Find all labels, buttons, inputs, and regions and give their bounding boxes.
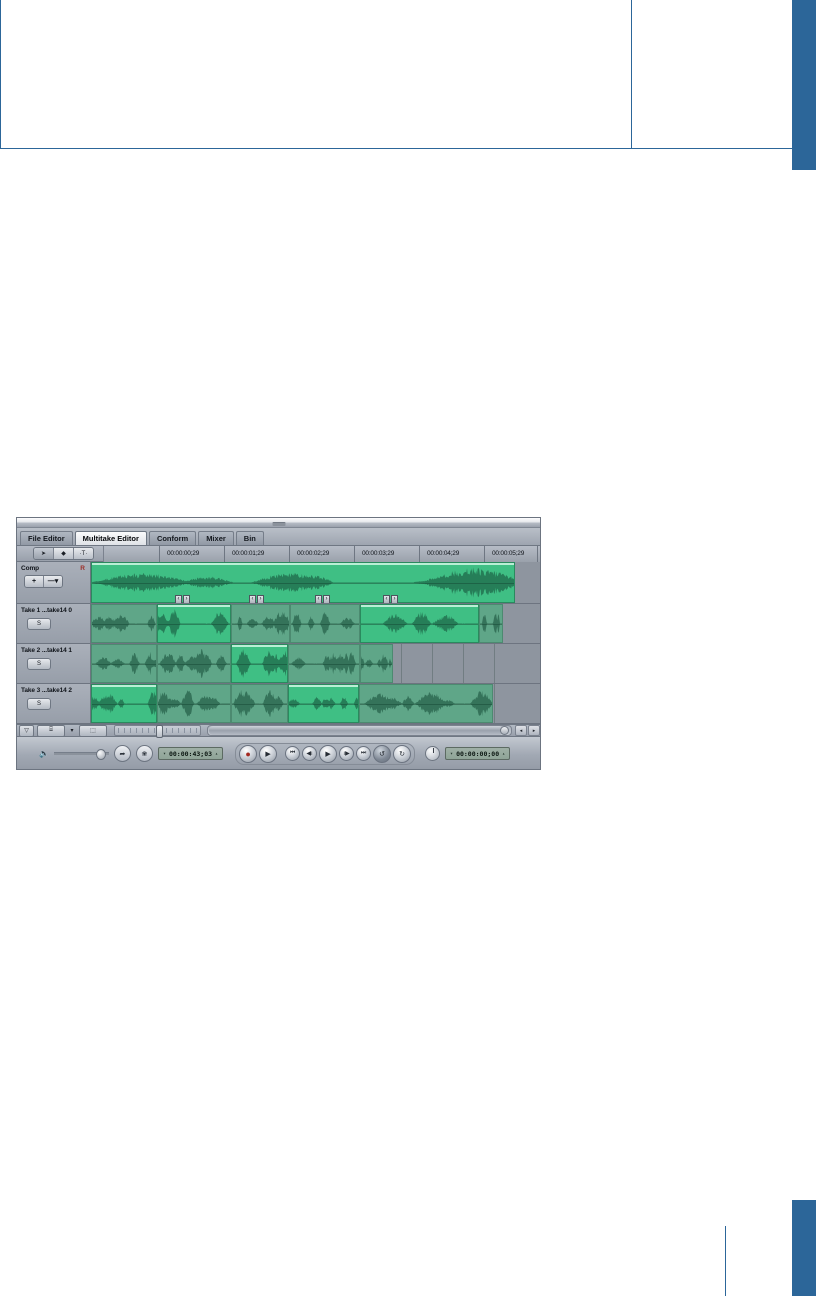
tool-button-group: ➤ ◆ ·T·	[33, 547, 94, 560]
take-clip[interactable]	[290, 604, 360, 643]
take-clip[interactable]	[479, 604, 503, 643]
take-clip[interactable]	[231, 604, 290, 643]
volume-slider[interactable]	[54, 752, 109, 755]
scrollbar-thumb[interactable]	[209, 726, 503, 735]
transition-handle-right-icon[interactable]: ›	[183, 595, 190, 603]
editor-tab-bar: File Editor Multitake Editor Conform Mix…	[17, 528, 540, 546]
take-clip[interactable]	[231, 684, 288, 723]
transition-handle[interactable]: ‹›	[249, 595, 264, 603]
take-track: Take 1 ...take14 0S	[17, 604, 540, 644]
tab-mixer[interactable]: Mixer	[198, 531, 234, 545]
record-button[interactable]: ●	[239, 745, 257, 763]
transition-handle-left-icon[interactable]: ‹	[249, 595, 256, 603]
lane-gridline	[494, 684, 495, 723]
selection-timecode-value: 00:00:00;00	[456, 750, 499, 758]
ruler-label: 00:00:05;29	[492, 550, 524, 557]
page-column-rule-bottom	[725, 1226, 726, 1296]
timecode-down-arrow-icon[interactable]: ▾	[163, 751, 166, 757]
tab-conform[interactable]: Conform	[149, 531, 196, 545]
take-track-header[interactable]: Take 1 ...take14 0S	[17, 604, 91, 643]
waveform	[291, 605, 359, 642]
take-clip-selected[interactable]	[288, 684, 359, 723]
go-to-end-button[interactable]: ⏭	[356, 746, 371, 761]
take-clip[interactable]	[91, 644, 157, 683]
tab-file-editor[interactable]: File Editor	[20, 531, 73, 545]
transition-handle-left-icon[interactable]: ‹	[315, 595, 322, 603]
take-track: Take 3 ...take14 2S	[17, 684, 540, 724]
ruler-label: 00:00:04;29	[427, 550, 459, 557]
rewind-button[interactable]: ◀ı	[302, 746, 317, 761]
cycle-button[interactable]: ↺	[373, 745, 391, 763]
ruler-tick	[484, 546, 485, 562]
lane-gridline	[401, 644, 402, 683]
pointer-tool-icon[interactable]: ➤	[34, 548, 54, 559]
zoom-slider-knob[interactable]	[156, 725, 163, 738]
multitake-editor-window: File Editor Multitake Editor Conform Mix…	[16, 517, 541, 770]
take-track-lane[interactable]	[91, 604, 540, 643]
solo-button[interactable]: S	[27, 698, 51, 710]
jog-dial[interactable]	[425, 746, 440, 761]
record-enable-indicator[interactable]: R	[80, 565, 85, 572]
solo-button[interactable]: S	[27, 618, 51, 630]
transition-handle-strip: ‹›‹›‹›‹›	[91, 595, 540, 603]
take-track-list: Take 1 ...take14 0STake 2 ...take14 1STa…	[17, 604, 540, 724]
take-track-name: Take 2 ...take14 1	[21, 647, 72, 654]
timeline-ruler[interactable]: 00:00:00;2900:00:01;2900:00:02;2900:00:0…	[103, 546, 540, 562]
take-clip-selected[interactable]	[231, 644, 288, 683]
selection-down-arrow-icon[interactable]: ▾	[450, 751, 453, 757]
waveform	[361, 605, 478, 642]
waveform	[360, 685, 492, 722]
waveform	[480, 605, 502, 642]
snap-icon[interactable]: ❀	[136, 745, 153, 762]
cycle-region-icon[interactable]: ➦	[114, 745, 131, 762]
waveform	[158, 605, 230, 642]
take-clip-selected[interactable]	[91, 684, 157, 723]
playhead-timecode-field[interactable]: ▾ 00:00:43;03 ▴	[158, 747, 223, 760]
go-to-start-button[interactable]: ⏮	[285, 746, 300, 761]
comp-track-header[interactable]: Comp R + —▾	[17, 562, 91, 603]
waveform	[289, 685, 358, 722]
page-accent-bar-top	[792, 0, 816, 170]
selection-up-arrow-icon[interactable]: ▴	[502, 751, 505, 757]
track-view-toolbar: ▽ ⌸ ▾ ⬚ ◂ ▸	[17, 724, 540, 737]
waveform	[232, 685, 287, 722]
take-clip[interactable]	[360, 644, 393, 683]
lane-gridline	[494, 644, 495, 683]
window-titlebar[interactable]	[17, 518, 540, 528]
transition-handle[interactable]: ‹›	[175, 595, 190, 603]
play-alt-button[interactable]: ▶	[319, 745, 337, 763]
transport-button-group: ●▶⏮◀ı▶ı▶⏭↺↻	[235, 743, 415, 765]
take-clip[interactable]	[91, 604, 157, 643]
transition-handle-left-icon[interactable]: ‹	[383, 595, 390, 603]
ruler-tick	[159, 546, 160, 562]
ruler-label: 00:00:00;29	[167, 550, 199, 557]
zoom-slider[interactable]	[114, 725, 201, 736]
ruler-tick	[354, 546, 355, 562]
waveform	[232, 645, 287, 682]
add-take-button[interactable]: +	[25, 576, 44, 587]
play-button[interactable]: ▶	[259, 745, 277, 763]
page-header-rule	[0, 148, 792, 149]
ruler-tick	[419, 546, 420, 562]
selection-timecode-field[interactable]: ▾ 00:00:00;00 ▴	[445, 747, 510, 760]
ruler-tick	[224, 546, 225, 562]
take-clip[interactable]	[288, 644, 360, 683]
take-clip-selected[interactable]	[157, 604, 231, 643]
replace-button[interactable]: ↻	[393, 745, 411, 763]
take-track-lane[interactable]	[91, 644, 540, 683]
tab-bin[interactable]: Bin	[236, 531, 264, 545]
text-tool-icon[interactable]: ·T·	[74, 548, 93, 559]
waveform	[289, 645, 359, 682]
lane-gridline	[432, 644, 433, 683]
ruler-tick	[289, 546, 290, 562]
ruler-label: 00:00:01;29	[232, 550, 264, 557]
remove-take-button[interactable]: —▾	[44, 576, 62, 587]
volume-slider-knob[interactable]	[96, 749, 106, 760]
transition-handle-left-icon[interactable]: ‹	[175, 595, 182, 603]
transition-handle[interactable]: ‹›	[383, 595, 398, 603]
tab-multitake-editor[interactable]: Multitake Editor	[75, 531, 147, 545]
playhead-timecode-value: 00:00:43;03	[169, 750, 212, 758]
take-clip-selected[interactable]	[360, 604, 479, 643]
solo-button[interactable]: S	[27, 658, 51, 670]
take-clip[interactable]	[359, 684, 493, 723]
transition-handle-right-icon[interactable]: ›	[391, 595, 398, 603]
take-track: Take 2 ...take14 1S	[17, 644, 540, 684]
scrollbar-resize-handle[interactable]	[500, 726, 509, 735]
ruler-tick	[537, 546, 538, 562]
comp-track-lane[interactable]: ‹›‹›‹›‹›	[91, 562, 540, 603]
transport-bar: 🔈 ➦ ❀ ▾ 00:00:43;03 ▴ ●▶⏮◀ı▶ı▶⏭↺↻ ▾ 00:0…	[17, 737, 540, 770]
page-margin-rule-left	[0, 0, 1, 149]
tool-and-ruler-row: ➤ ◆ ·T· 00:00:00;2900:00:01;2900:00:02;2…	[17, 546, 540, 562]
take-track-lane[interactable]	[91, 684, 540, 723]
waveform	[232, 605, 289, 642]
waveform	[92, 645, 156, 682]
scroll-right-arrow-icon[interactable]: ▸	[528, 725, 540, 736]
filter-icon[interactable]: ▽	[19, 725, 34, 737]
forward-button[interactable]: ı▶	[339, 746, 354, 761]
ruler-label: 00:00:02;29	[297, 550, 329, 557]
timecode-up-arrow-icon[interactable]: ▴	[215, 751, 218, 757]
track-area: Comp R + —▾ ‹›‹›‹›‹› Take 1 ...take14 0S…	[17, 562, 540, 724]
chevron-down-icon[interactable]: ▾	[68, 726, 76, 736]
page-column-rule-top	[631, 0, 632, 149]
comp-track: Comp R + —▾ ‹›‹›‹›‹›	[17, 562, 540, 604]
marker-tool-icon[interactable]: ◆	[54, 548, 74, 559]
view-mode-icon[interactable]: ⌸	[37, 725, 65, 737]
window-grip-icon	[272, 522, 285, 526]
take-clip[interactable]	[157, 684, 231, 723]
horizontal-scrollbar[interactable]	[207, 725, 512, 736]
take-track-header[interactable]: Take 2 ...take14 1S	[17, 644, 91, 683]
lane-gridline	[463, 644, 464, 683]
take-track-name: Take 1 ...take14 0	[21, 607, 72, 614]
speaker-icon[interactable]: 🔈	[39, 749, 49, 758]
scroll-left-arrow-icon[interactable]: ◂	[515, 725, 527, 736]
ruler-label: 00:00:03;29	[362, 550, 394, 557]
take-track-header[interactable]: Take 3 ...take14 2S	[17, 684, 91, 723]
take-track-name: Take 3 ...take14 2	[21, 687, 72, 694]
waveform	[361, 645, 392, 682]
take-clip[interactable]	[157, 644, 231, 683]
waveform	[92, 605, 156, 642]
waveform	[158, 685, 230, 722]
transition-handle-right-icon[interactable]: ›	[257, 595, 264, 603]
zoom-tool-icon[interactable]: ⬚	[79, 725, 107, 737]
transition-handle-right-icon[interactable]: ›	[323, 595, 330, 603]
comp-add-remove-group: + —▾	[24, 575, 63, 588]
comp-track-name: Comp	[21, 565, 39, 572]
transition-handle[interactable]: ‹›	[315, 595, 330, 603]
waveform	[92, 685, 156, 722]
waveform	[158, 645, 230, 682]
page-accent-bar-bottom	[792, 1200, 816, 1296]
